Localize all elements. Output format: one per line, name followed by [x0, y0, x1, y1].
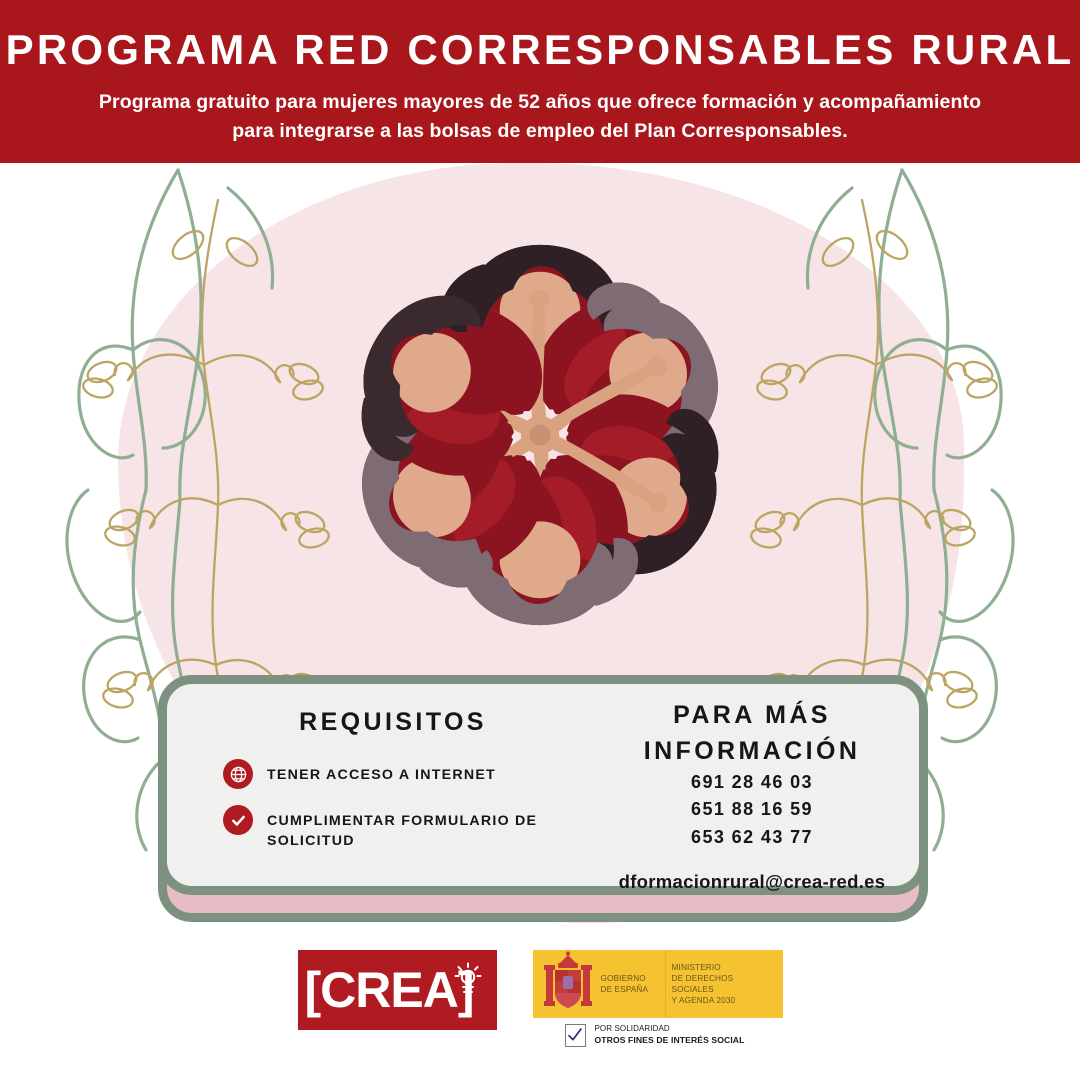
joined-hands-center: [521, 416, 559, 454]
contacto-section: PARA MÁS INFORMACIÓN 691 28 46 03 651 88…: [587, 698, 917, 893]
checkmark-icon: [565, 1024, 586, 1047]
poster-header: PROGRAMA RED CORRESPONSABLES RURAL Progr…: [0, 0, 1080, 163]
crea-logo: [CREA]: [298, 950, 497, 1030]
phone-number-2[interactable]: 651 88 16 59: [587, 796, 917, 823]
contacto-title-line2: INFORMACIÓN: [587, 734, 917, 770]
ministerio-line3: Y AGENDA 2030: [672, 995, 777, 1006]
solidaridad-text: POR SOLIDARIDAD OTROS FINES DE INTERÉS S…: [595, 1024, 745, 1046]
info-card: REQUISITOS TENER ACCESO A INTERNET: [158, 675, 928, 895]
solidaridad-line1: POR SOLIDARIDAD: [595, 1024, 745, 1034]
page-subtitle: Programa gratuito para mujeres mayores d…: [90, 88, 990, 147]
solidaridad-banner: POR SOLIDARIDAD OTROS FINES DE INTERÉS S…: [533, 1018, 783, 1052]
gobierno-banner: GOBIERNO DE ESPAÑA MINISTERIO DE DERECHO…: [533, 950, 783, 1018]
footer-logos: [CREA]: [0, 950, 1080, 1070]
gobierno-text: GOBIERNO DE ESPAÑA: [601, 973, 659, 995]
gobierno-line1: GOBIERNO: [601, 973, 659, 984]
ministerio-line2: DE DERECHOS SOCIALES: [672, 973, 777, 995]
phone-number-3[interactable]: 653 62 43 77: [587, 824, 917, 851]
contact-email[interactable]: dformacionrural@crea-red.es: [587, 871, 917, 893]
solidaridad-line2: OTROS FINES DE INTERÉS SOCIAL: [595, 1035, 745, 1046]
check-circle-icon: [223, 805, 253, 835]
requisitos-section: REQUISITOS TENER ACCESO A INTERNET: [223, 708, 563, 869]
requisito-label-formulario: CUMPLIMENTAR FORMULARIO DE SOLICITUD: [267, 807, 563, 851]
spain-coat-of-arms-icon: [541, 951, 595, 1018]
requisitos-title: REQUISITOS: [223, 708, 563, 737]
globe-icon: [223, 759, 253, 789]
phone-number-1[interactable]: 691 28 46 03: [587, 769, 917, 796]
six-women-circle-illustration: [290, 195, 790, 675]
crea-wordmark: [CREA]: [305, 965, 474, 1015]
requisito-item-formulario: CUMPLIMENTAR FORMULARIO DE SOLICITUD: [223, 807, 563, 851]
requisito-item-internet: TENER ACCESO A INTERNET: [223, 761, 563, 789]
gobierno-divider: [665, 950, 666, 1018]
gobierno-line2: DE ESPAÑA: [601, 984, 659, 995]
poster-root: PROGRAMA RED CORRESPONSABLES RURAL Progr…: [0, 0, 1080, 1080]
gobierno-espana-logo: GOBIERNO DE ESPAÑA MINISTERIO DE DERECHO…: [533, 950, 783, 1052]
page-title: PROGRAMA RED CORRESPONSABLES RURAL: [6, 28, 1075, 72]
requisito-label-internet: TENER ACCESO A INTERNET: [267, 761, 496, 785]
contacto-title-line1: PARA MÁS: [587, 698, 917, 734]
ministerio-text: MINISTERIO DE DERECHOS SOCIALES Y AGENDA…: [672, 962, 777, 1006]
lightbulb-icon: [453, 962, 483, 1001]
ministerio-line1: MINISTERIO: [672, 962, 777, 973]
